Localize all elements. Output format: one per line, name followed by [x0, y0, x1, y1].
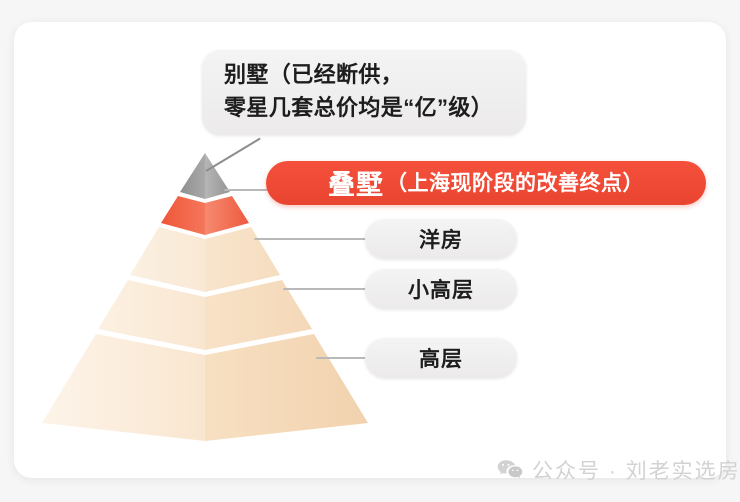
label-high-rise[interactable]: 高层 — [365, 338, 517, 378]
label-villa[interactable]: 别墅（已经断供， 零星几套总价均是“亿”级） — [202, 50, 526, 135]
pyramid-tier-stacked-villa — [161, 196, 249, 235]
label-villa-line1: 别墅（已经断供， — [224, 58, 508, 91]
label-villa-line2: 零星几套总价均是“亿”级） — [224, 91, 508, 124]
label-low-rise[interactable]: 小高层 — [365, 269, 517, 309]
watermark-text: 公众号 · 刘老实选房 — [532, 455, 740, 485]
connector-low-rise — [283, 288, 368, 290]
connector-high-rise — [316, 357, 368, 359]
watermark: 公众号 · 刘老实选房 — [497, 455, 740, 485]
connector-stacked-villa — [224, 189, 268, 191]
label-stacked-villa-primary: 叠墅 — [328, 163, 384, 202]
label-stacked-villa[interactable]: 叠墅 （上海现阶段的改善终点） — [266, 161, 706, 205]
pyramid-tier-garden-house — [130, 227, 280, 292]
pyramid-tier-high-rise — [42, 334, 368, 441]
label-stacked-villa-secondary: （上海现阶段的改善终点） — [386, 167, 644, 197]
wechat-icon — [497, 459, 523, 481]
label-garden-house[interactable]: 洋房 — [365, 219, 517, 259]
connector-garden-house — [254, 238, 368, 240]
diagram-canvas: 别墅（已经断供， 零星几套总价均是“亿”级） 叠墅 （上海现阶段的改善终点） 洋… — [0, 0, 740, 502]
